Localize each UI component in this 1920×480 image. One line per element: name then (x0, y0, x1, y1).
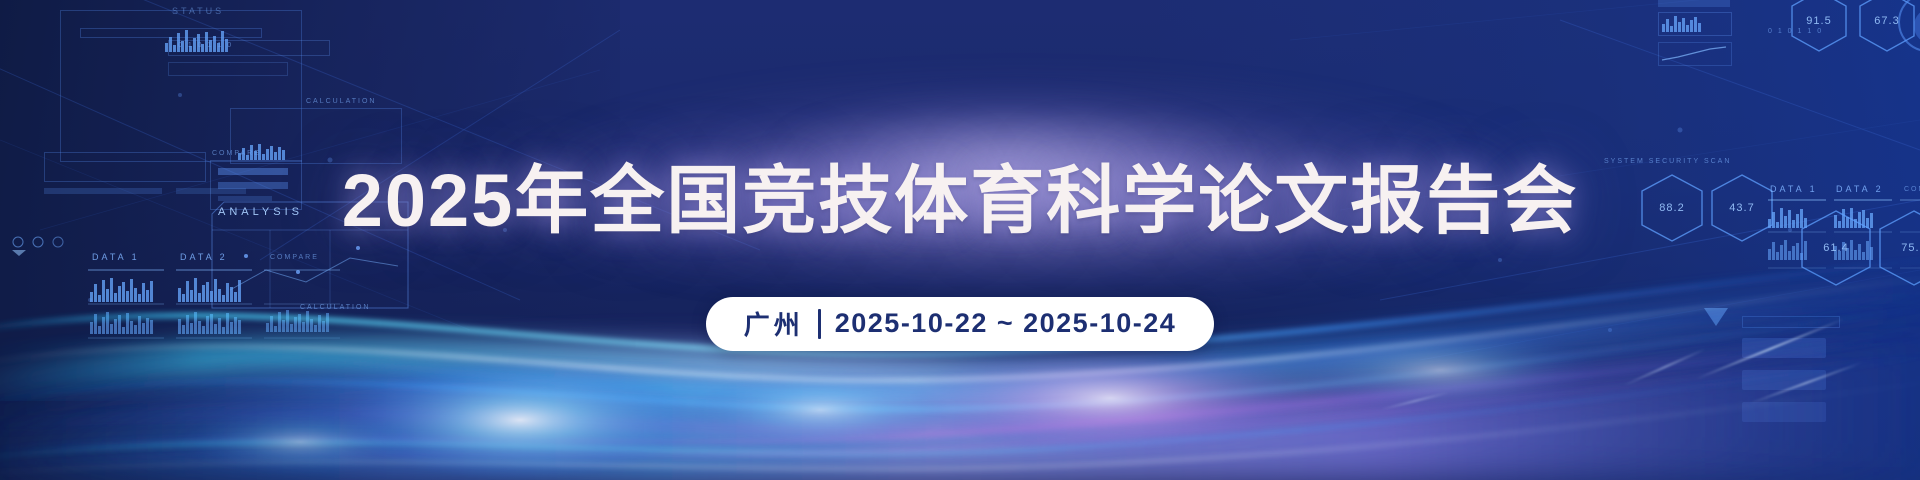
event-dates: 2025-10-22 ~ 2025-10-24 (835, 308, 1177, 339)
event-city: 广州 (744, 305, 804, 342)
banner-content: 2025年全国竞技体育科学论文报告会 广州 2025-10-22 ~ 2025-… (0, 0, 1920, 480)
subtitle-pill-wrapper: 广州 2025-10-22 ~ 2025-10-24 (0, 297, 1920, 351)
event-info-pill: 广州 2025-10-22 ~ 2025-10-24 (706, 297, 1215, 351)
banner-title: 2025年全国竞技体育科学论文报告会 (0, 164, 1920, 238)
pill-separator (818, 309, 821, 339)
event-banner: 0 1 0 1 1 0 STATUS COMPARE (0, 0, 1920, 480)
